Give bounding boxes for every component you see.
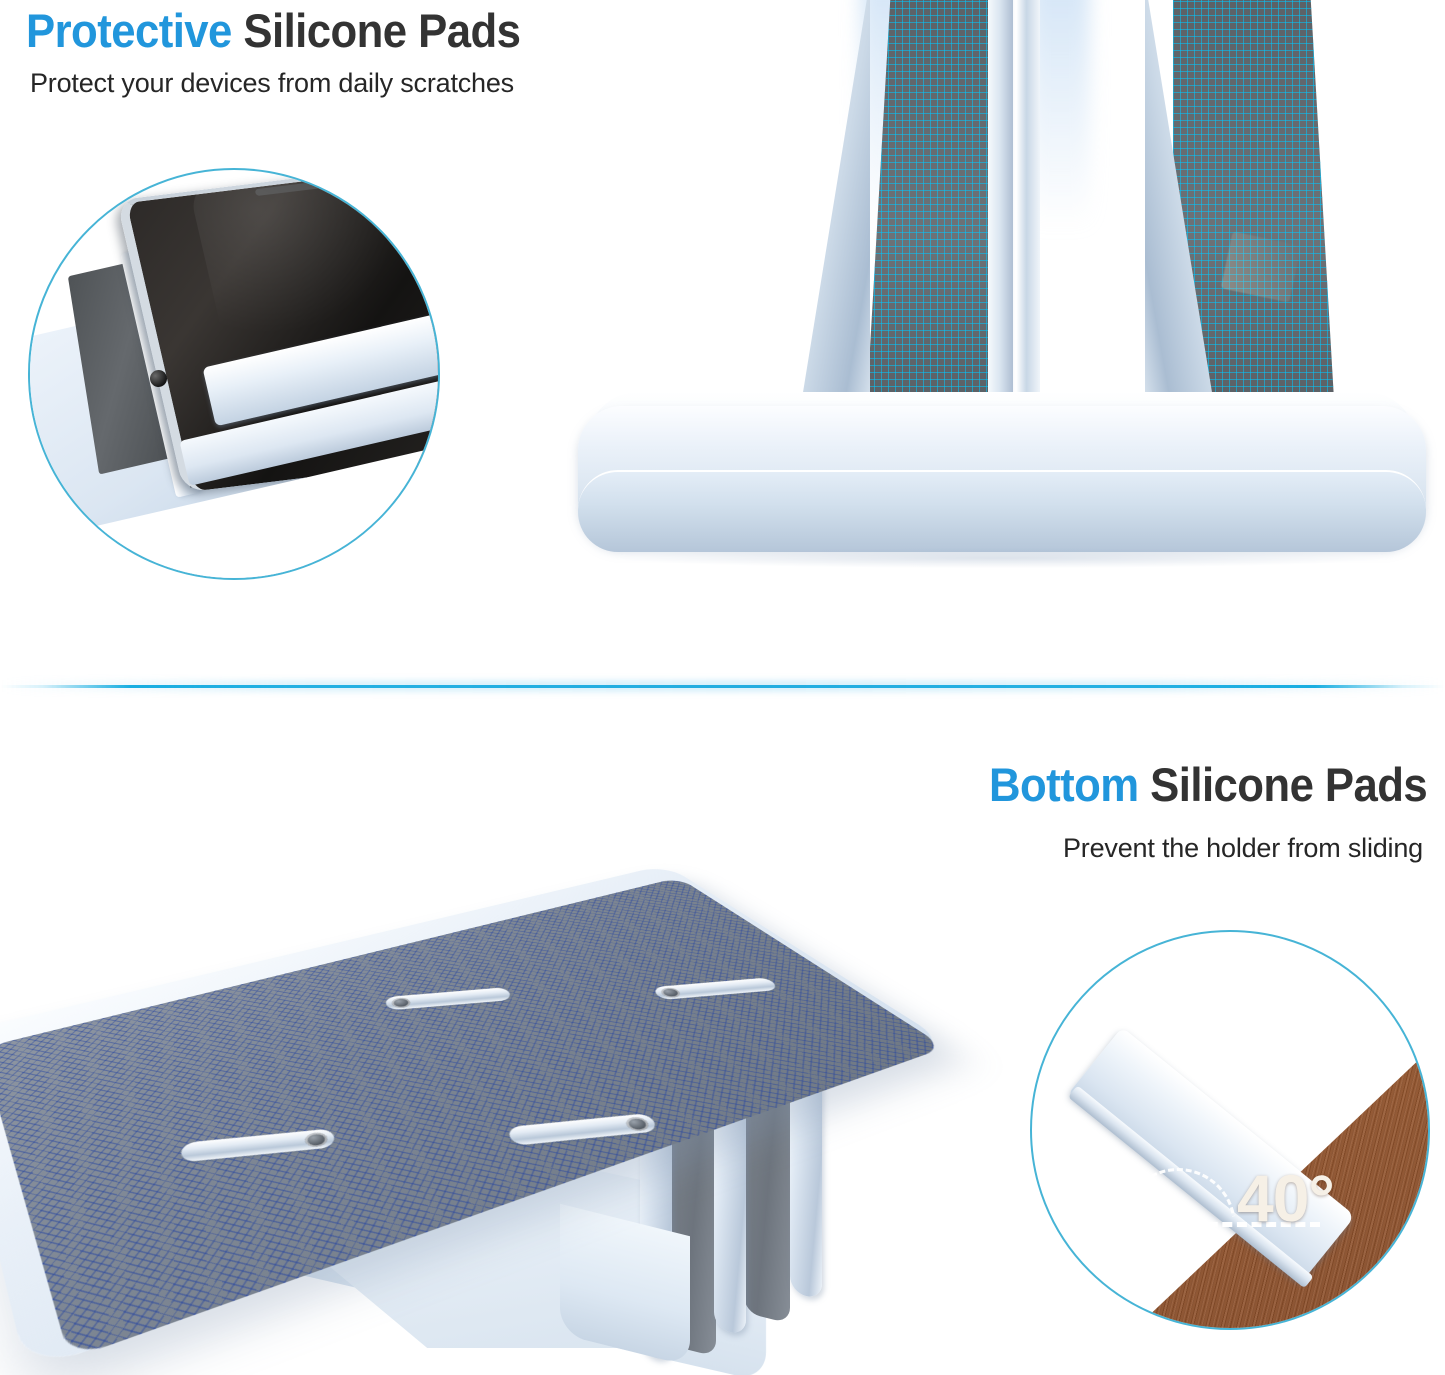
hex-screw-icon [305, 1132, 328, 1148]
stand-fin-left [792, 0, 870, 460]
section-divider [0, 685, 1445, 688]
phone-notch-icon [255, 181, 324, 196]
product-drop-shadow [620, 548, 1380, 568]
laptop-stand-underside-view [0, 790, 950, 1375]
bottom-heading-plain: Silicone Pads [1150, 758, 1427, 811]
vertical-laptop-stand-front-view [560, 0, 1445, 590]
screw-slot-2 [181, 1128, 336, 1162]
top-heading-accent: Protective [26, 4, 232, 57]
screw-slot-4 [507, 1113, 659, 1146]
hex-screw-icon [391, 997, 412, 1008]
bottom-heading: Bottom Silicone Pads [989, 760, 1427, 809]
stand-fin-center [988, 0, 1040, 418]
hex-screw-icon [624, 1116, 651, 1131]
screw-slot-3 [652, 977, 779, 1000]
product-feature-page: Protective Silicone Pads Protect your de… [0, 0, 1445, 1375]
top-heading-plain: Silicone Pads [243, 4, 520, 57]
stand-base-edge-lip [578, 470, 1426, 552]
bottom-subheading: Prevent the holder from sliding [1063, 833, 1423, 864]
top-subheading: Protect your devices from daily scratche… [30, 68, 514, 99]
screw-slot-1 [385, 987, 513, 1010]
top-heading: Protective Silicone Pads [26, 6, 520, 55]
bottom-heading-accent: Bottom [989, 758, 1139, 811]
angle-label: 40° [1237, 1160, 1334, 1236]
phone-in-slot-callout [28, 168, 440, 580]
hex-screw-icon [659, 987, 682, 998]
angle-on-wood-callout: 40° [1030, 930, 1430, 1330]
